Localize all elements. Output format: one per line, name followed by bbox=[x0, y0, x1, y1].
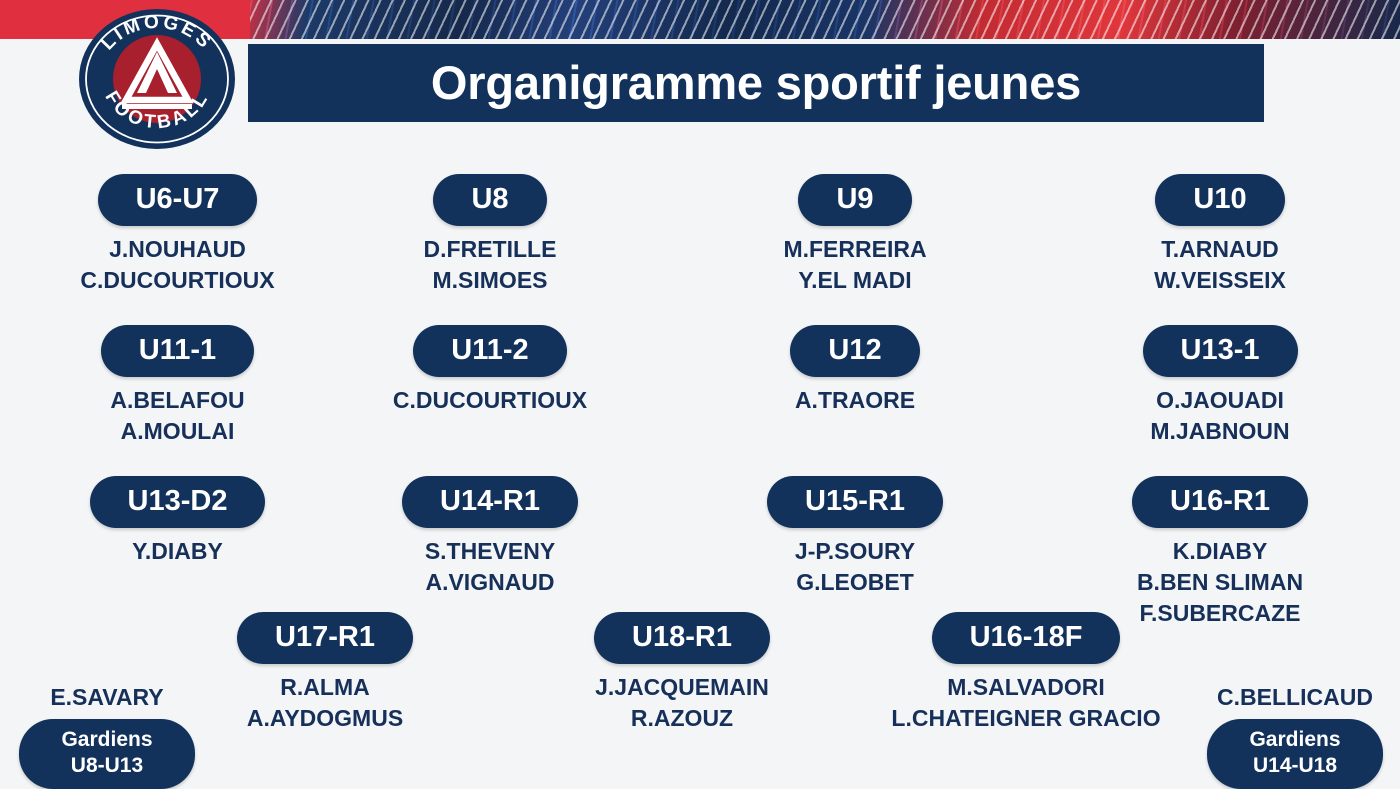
team-coach: J.JACQUEMAIN bbox=[537, 672, 827, 703]
team-card-u10: U10 T.ARNAUD W.VEISSEIX bbox=[1075, 174, 1365, 296]
page-title: Organigramme sportif jeunes bbox=[248, 44, 1264, 122]
team-coach: A.VIGNAUD bbox=[345, 567, 635, 598]
team-coach: A.BELAFOU bbox=[30, 385, 325, 416]
team-card-u8: U8 D.FRETILLE M.SIMOES bbox=[345, 174, 635, 296]
team-category-pill[interactable]: U12 bbox=[790, 325, 919, 377]
team-category-pill[interactable]: U18-R1 bbox=[594, 612, 770, 664]
team-coach: M.FERREIRA bbox=[710, 234, 1000, 265]
team-category-pill[interactable]: U17-R1 bbox=[237, 612, 413, 664]
team-category-pill[interactable]: U16-18F bbox=[932, 612, 1121, 664]
team-category-pill[interactable]: U6-U7 bbox=[98, 174, 258, 226]
goalkeeper-card-u14-u18: C.BELLICAUD Gardiens U14-U18 bbox=[1150, 682, 1400, 789]
goalkeeper-coach: C.BELLICAUD bbox=[1150, 682, 1400, 713]
goalkeeper-label-line2: U14-U18 bbox=[1253, 754, 1337, 777]
team-coach: J.NOUHAUD bbox=[30, 234, 325, 265]
goalkeeper-category-pill[interactable]: Gardiens U8-U13 bbox=[19, 719, 194, 789]
team-category-pill[interactable]: U14-R1 bbox=[402, 476, 578, 528]
team-coach: K.DIABY bbox=[1075, 536, 1365, 567]
team-coach: J-P.SOURY bbox=[710, 536, 1000, 567]
team-category-pill[interactable]: U9 bbox=[798, 174, 911, 226]
team-category-pill[interactable]: U13-1 bbox=[1143, 325, 1298, 377]
team-coach: G.LEOBET bbox=[710, 567, 1000, 598]
team-card-u14-r1: U14-R1 S.THEVENY A.VIGNAUD bbox=[345, 476, 635, 598]
team-coach: L.CHATEIGNER GRACIO bbox=[880, 703, 1172, 734]
team-coach: W.VEISSEIX bbox=[1075, 265, 1365, 296]
team-card-u11-2: U11-2 C.DUCOURTIOUX bbox=[345, 325, 635, 416]
team-category-pill[interactable]: U8 bbox=[433, 174, 546, 226]
team-card-u13-d2: U13-D2 Y.DIABY bbox=[30, 476, 325, 567]
team-card-u16-r1: U16-R1 K.DIABY B.BEN SLIMAN F.SUBERCAZE bbox=[1075, 476, 1365, 629]
team-category-pill[interactable]: U10 bbox=[1155, 174, 1284, 226]
team-coach: A.TRAORE bbox=[710, 385, 1000, 416]
team-coach: O.JAOUADI bbox=[1075, 385, 1365, 416]
team-category-pill[interactable]: U11-2 bbox=[413, 325, 566, 377]
team-card-u15-r1: U15-R1 J-P.SOURY G.LEOBET bbox=[710, 476, 1000, 598]
team-coach: A.MOULAI bbox=[30, 416, 325, 447]
team-coach: S.THEVENY bbox=[345, 536, 635, 567]
team-card-u13-1: U13-1 O.JAOUADI M.JABNOUN bbox=[1075, 325, 1365, 447]
goalkeeper-coach: E.SAVARY bbox=[0, 682, 252, 713]
team-coach: T.ARNAUD bbox=[1075, 234, 1365, 265]
team-coach: D.FRETILLE bbox=[345, 234, 635, 265]
team-card-u12: U12 A.TRAORE bbox=[710, 325, 1000, 416]
team-category-pill[interactable]: U16-R1 bbox=[1132, 476, 1308, 528]
team-coach: Y.DIABY bbox=[30, 536, 325, 567]
title-banner: Organigramme sportif jeunes bbox=[248, 44, 1264, 122]
goalkeeper-category-pill[interactable]: Gardiens U14-U18 bbox=[1207, 719, 1382, 789]
team-coach: R.AZOUZ bbox=[537, 703, 827, 734]
team-category-pill[interactable]: U11-1 bbox=[101, 325, 254, 377]
team-coach: B.BEN SLIMAN bbox=[1075, 567, 1365, 598]
team-card-u18-r1: U18-R1 J.JACQUEMAIN R.AZOUZ bbox=[537, 612, 827, 734]
team-coach: Y.EL MADI bbox=[710, 265, 1000, 296]
team-category-pill[interactable]: U15-R1 bbox=[767, 476, 943, 528]
goalkeeper-label-line2: U8-U13 bbox=[71, 754, 143, 777]
team-card-u11-1: U11-1 A.BELAFOU A.MOULAI bbox=[30, 325, 325, 447]
goalkeeper-label-line1: Gardiens bbox=[61, 728, 152, 751]
team-coach: C.DUCOURTIOUX bbox=[345, 385, 635, 416]
goalkeeper-card-u8-u13: E.SAVARY Gardiens U8-U13 bbox=[0, 682, 252, 789]
team-card-u9: U9 M.FERREIRA Y.EL MADI bbox=[710, 174, 1000, 296]
limoges-football-crest-icon: LIMOGES FOOTBALL bbox=[78, 8, 236, 150]
team-coach: C.DUCOURTIOUX bbox=[30, 265, 325, 296]
goalkeeper-label-line1: Gardiens bbox=[1249, 728, 1340, 751]
team-coach: M.SALVADORI bbox=[880, 672, 1172, 703]
team-coach: M.JABNOUN bbox=[1075, 416, 1365, 447]
team-card-u16-18f: U16-18F M.SALVADORI L.CHATEIGNER GRACIO bbox=[880, 612, 1172, 734]
team-coach: M.SIMOES bbox=[345, 265, 635, 296]
team-category-pill[interactable]: U13-D2 bbox=[90, 476, 266, 528]
team-card-u6-u7: U6-U7 J.NOUHAUD C.DUCOURTIOUX bbox=[30, 174, 325, 296]
